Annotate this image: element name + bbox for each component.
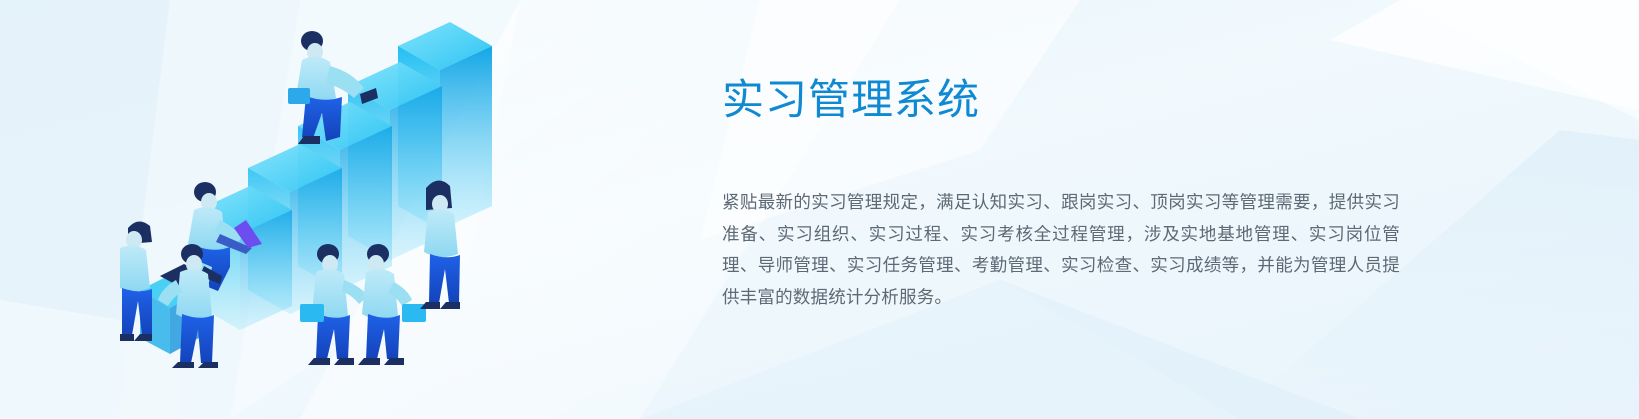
page-title: 实习管理系统: [722, 72, 1422, 128]
hero-banner: 实习管理系统 紧贴最新的实习管理规定，满足认知实习、跟岗实习、顶岗实习等管理需要…: [0, 0, 1639, 419]
banner-copy: 实习管理系统 紧贴最新的实习管理规定，满足认知实习、跟岗实习、顶岗实习等管理需要…: [722, 72, 1422, 313]
growth-chart-illustration: [120, 8, 520, 368]
person-woman-left: [120, 221, 152, 341]
banner-description: 紧贴最新的实习管理规定，满足认知实习、跟岗实习、顶岗实习等管理需要，提供实习准备…: [722, 128, 1400, 313]
